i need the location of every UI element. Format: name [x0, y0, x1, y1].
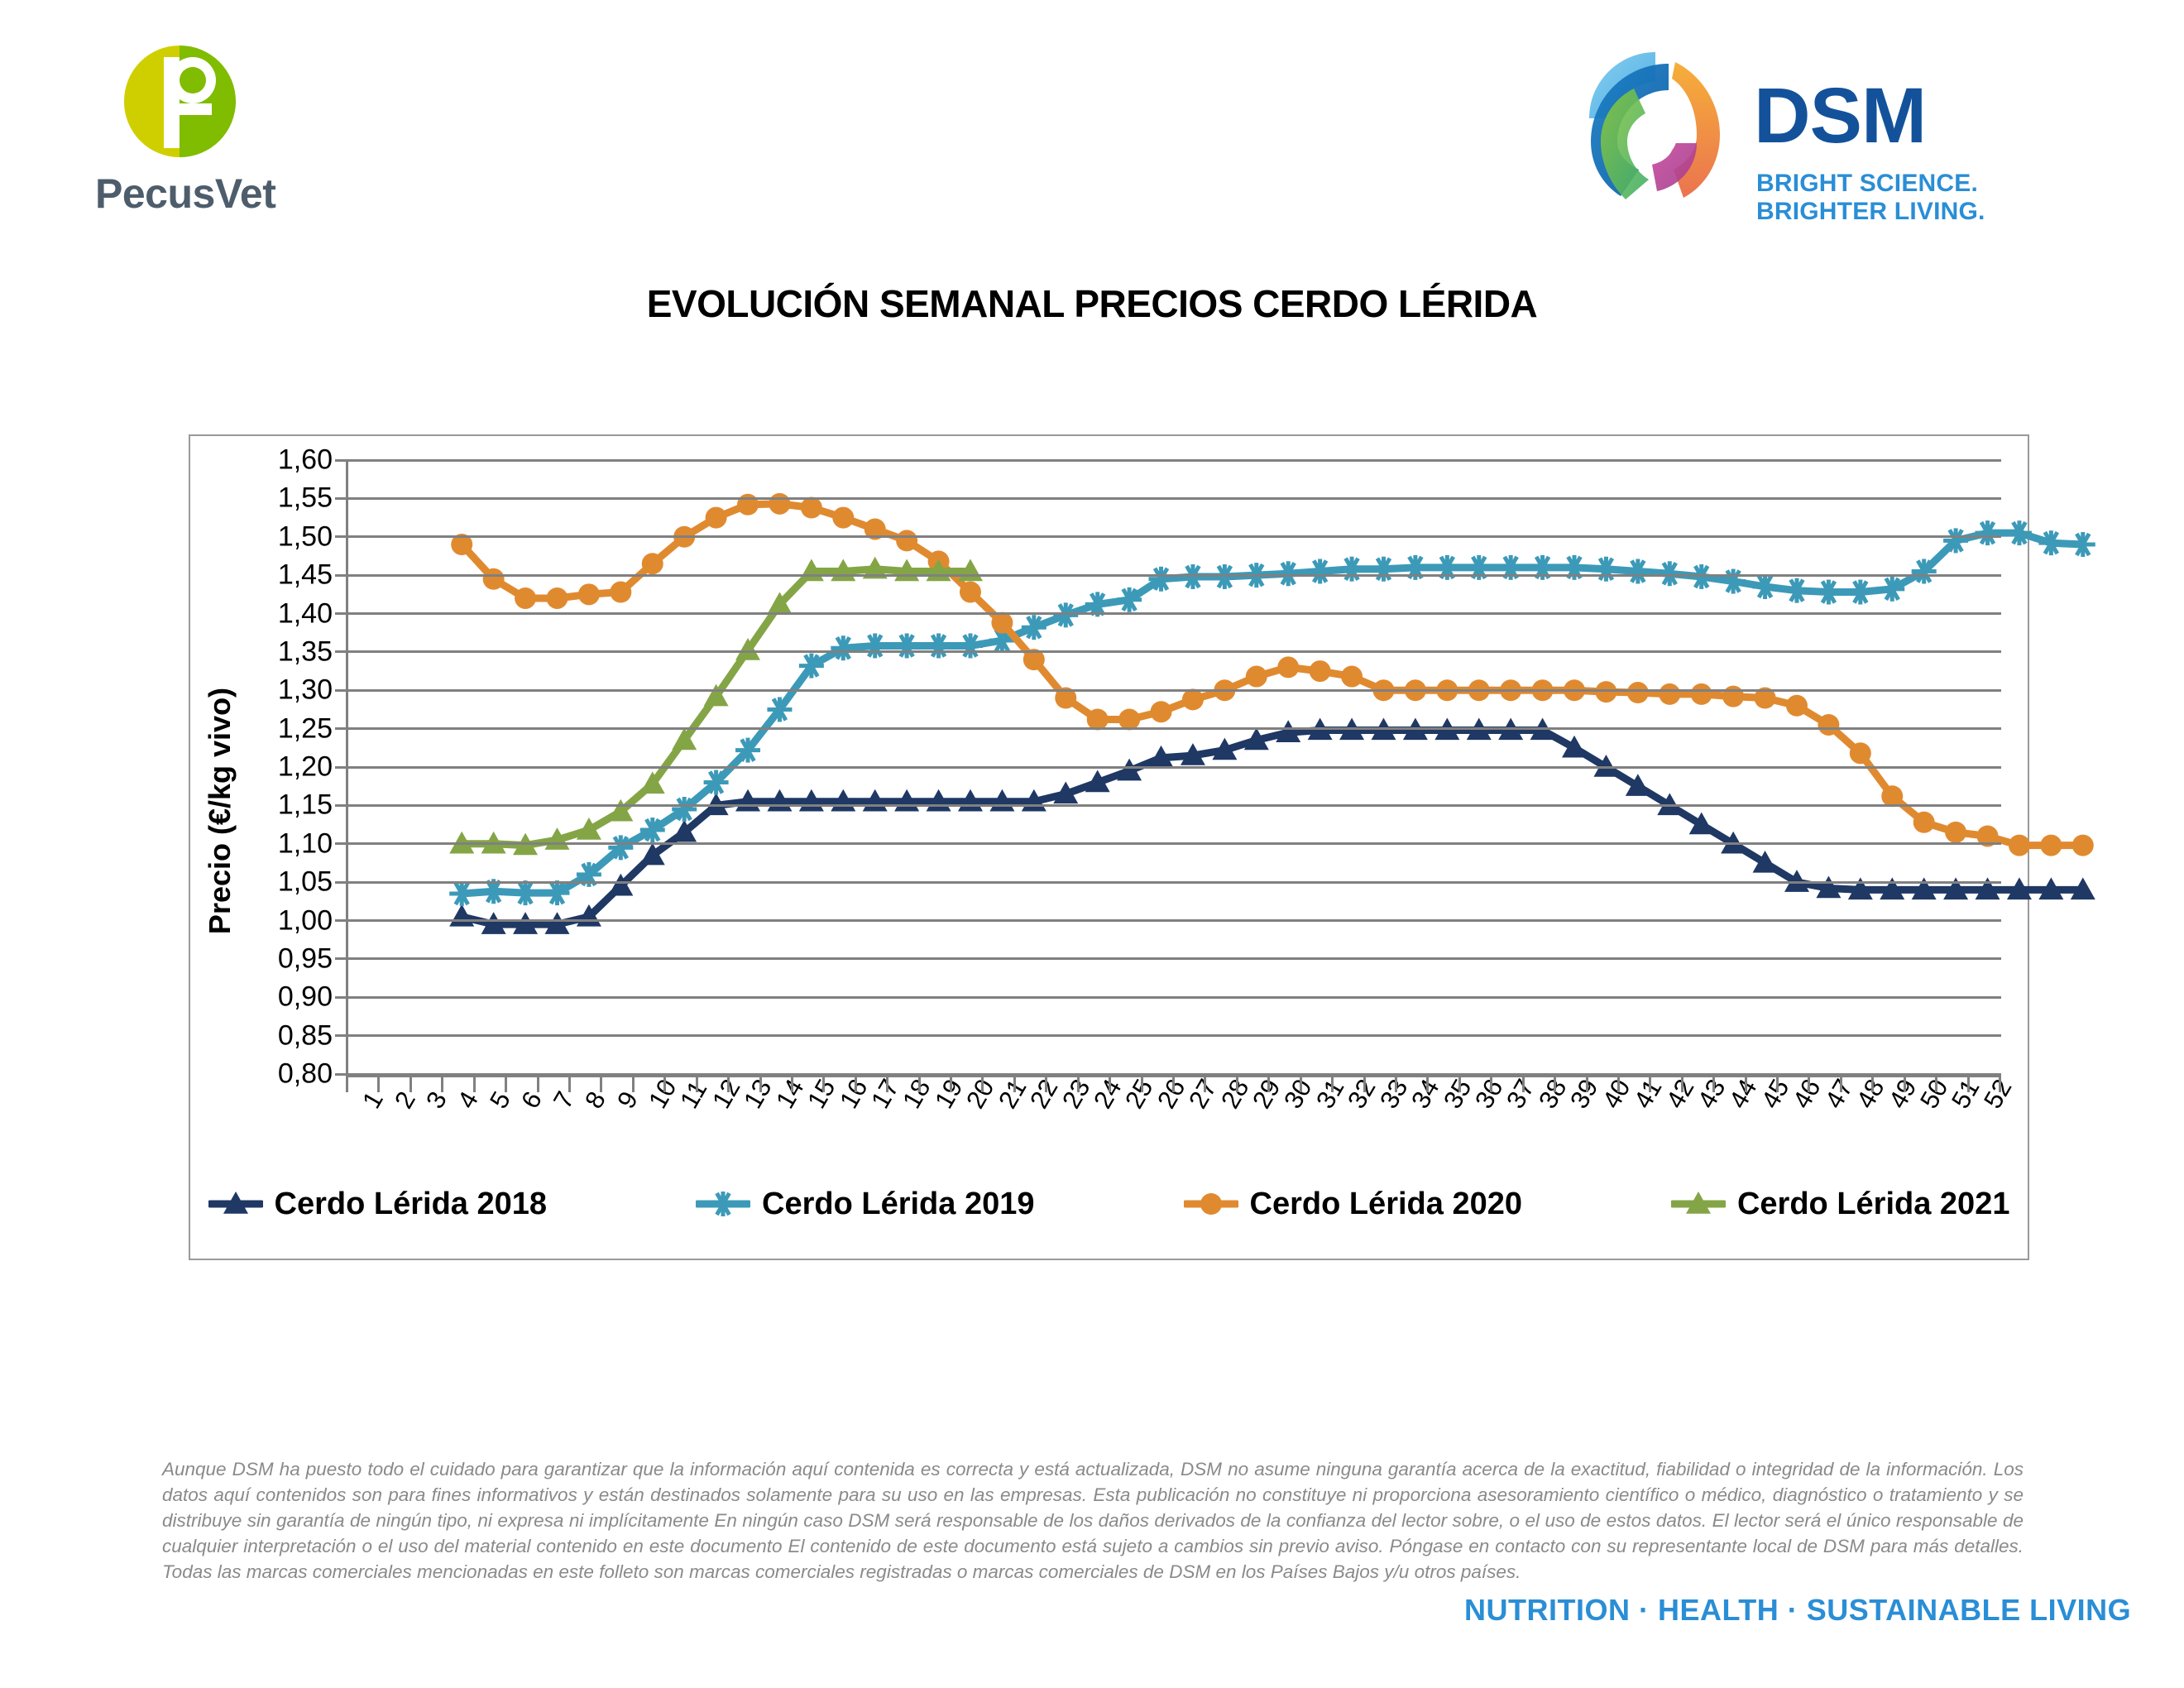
data-point-marker [927, 633, 951, 658]
x-tick-mark [1141, 1077, 1143, 1092]
data-point-marker [1945, 822, 1966, 843]
x-tick-label: 2 [389, 1086, 422, 1114]
gridline [348, 996, 2001, 999]
data-point-marker [1913, 812, 1935, 833]
x-tick-mark [759, 1077, 762, 1092]
data-point-marker [1151, 701, 1172, 722]
x-tick-mark [1331, 1077, 1334, 1092]
legend-marker-icon [1671, 1185, 1726, 1223]
legend-marker-icon [208, 1185, 263, 1223]
x-tick-mark [1077, 1077, 1080, 1092]
data-point-marker [894, 633, 919, 658]
x-tick-mark [1204, 1077, 1206, 1092]
x-tick-mark [1363, 1077, 1366, 1092]
data-point-marker [1626, 559, 1650, 583]
data-point-marker [1200, 1193, 1222, 1215]
data-point-marker [832, 507, 854, 529]
y-tick-mark [335, 881, 348, 884]
chart-legend: Cerdo Lérida 2018Cerdo Lérida 2019Cerdo … [189, 1175, 2029, 1233]
data-point-marker [1627, 682, 1649, 703]
dsm-logo: DSM BRIGHT SCIENCE. BRIGHTER LIVING. [1576, 46, 2105, 223]
data-point-marker [1593, 557, 1618, 582]
data-point-marker [1310, 660, 1331, 682]
data-point-marker [1689, 564, 1714, 589]
data-point-marker [1277, 656, 1299, 678]
data-point-marker [1212, 564, 1237, 589]
dsm-wordmark: DSM [1754, 77, 1926, 156]
pecusvet-logo: PecusVet [95, 46, 368, 228]
y-tick-mark [335, 535, 348, 538]
x-tick-mark [1681, 1077, 1683, 1092]
gridline [348, 1034, 2001, 1037]
data-point-marker [1850, 742, 1871, 764]
gridline [348, 459, 2001, 462]
x-tick-mark [346, 1077, 348, 1092]
data-point-marker [1308, 559, 1333, 583]
x-tick-label: 4 [452, 1086, 485, 1114]
x-tick-mark [855, 1077, 857, 1092]
legend-label: Cerdo Lérida 2021 [1737, 1187, 2009, 1222]
y-tick-mark [335, 919, 348, 922]
x-tick-label: 5 [484, 1086, 517, 1114]
data-point-marker [958, 633, 983, 658]
y-tick-mark [335, 574, 348, 577]
legend-marker-icon [1184, 1185, 1238, 1223]
x-tick-mark [1522, 1077, 1525, 1092]
series-cerdo-lérida-2018 [449, 717, 2095, 933]
x-tick-mark [568, 1077, 571, 1092]
dsm-swirl-icon [1576, 46, 1741, 211]
x-tick-mark [473, 1077, 476, 1092]
y-tick-mark [335, 612, 348, 615]
x-tick-mark [1808, 1077, 1810, 1092]
y-tick-mark [335, 727, 348, 730]
series-cerdo-lérida-2019 [449, 520, 2095, 906]
x-tick-mark [537, 1077, 539, 1092]
y-tick-mark [335, 459, 348, 462]
data-point-marker [1784, 578, 1809, 603]
y-tick-label: 0,90 [278, 981, 333, 1014]
x-tick-mark [663, 1077, 666, 1092]
y-tick-mark [335, 766, 348, 769]
data-point-marker [2040, 835, 2062, 856]
gridline [348, 612, 2001, 615]
data-point-marker [896, 530, 917, 551]
x-tick-mark [1871, 1077, 1874, 1092]
nutrition-health-tagline: NUTRITION · HEALTH · SUSTAINABLE LIVING [1464, 1593, 2131, 1628]
gridline [348, 842, 2001, 845]
gridline [348, 804, 2001, 807]
data-point-marker [2038, 530, 2063, 555]
y-axis-tick-labels: 1,601,551,501,451,401,351,301,251,201,15… [248, 460, 341, 1114]
x-tick-mark [1649, 1077, 1651, 1092]
x-tick-mark [1745, 1077, 1747, 1092]
y-tick-mark [335, 650, 348, 653]
x-tick-mark [1267, 1077, 1270, 1092]
data-point-marker [1721, 569, 1746, 594]
x-tick-mark [1776, 1077, 1779, 1092]
y-tick-label: 1,60 [278, 444, 333, 477]
x-tick-mark [1172, 1077, 1175, 1092]
data-point-marker [1848, 580, 1873, 605]
data-point-marker [1022, 615, 1046, 640]
data-point-marker [1246, 666, 1267, 688]
y-tick-mark [335, 497, 348, 500]
gridline [348, 727, 2001, 730]
data-point-marker [483, 568, 505, 590]
x-tick-mark [1967, 1077, 1970, 1092]
data-point-marker [2009, 835, 2030, 856]
y-tick-label: 1,00 [278, 904, 333, 937]
x-tick-label: 6 [515, 1086, 548, 1114]
x-tick-label: 9 [611, 1086, 644, 1114]
y-axis-label-text: Precio (€/kg vivo) [195, 637, 245, 985]
gridline [348, 650, 2001, 653]
x-tick-mark [1300, 1077, 1302, 1092]
x-tick-mark [632, 1077, 635, 1092]
x-tick-mark [1458, 1077, 1461, 1092]
x-tick-mark [1554, 1077, 1556, 1092]
y-tick-label: 0,80 [278, 1058, 333, 1091]
x-tick-mark [822, 1077, 825, 1092]
x-tick-label: 3 [420, 1086, 453, 1114]
x-tick-mark [1426, 1077, 1429, 1092]
pecusvet-wordmark: PecusVet [95, 170, 368, 218]
y-tick-mark [335, 804, 348, 807]
data-point-marker [578, 583, 600, 605]
data-point-marker [1753, 574, 1778, 599]
x-tick-mark [409, 1077, 412, 1092]
data-point-marker [991, 612, 1013, 634]
legend-item-2020[interactable]: Cerdo Lérida 2020 [1184, 1185, 1522, 1223]
y-tick-label: 1,05 [278, 866, 333, 899]
y-tick-mark [335, 996, 348, 999]
plot-area [346, 460, 2001, 1074]
data-point-marker [515, 587, 536, 609]
x-tick-mark [1586, 1077, 1588, 1092]
x-tick-mark [505, 1077, 507, 1092]
data-point-marker [1053, 602, 1078, 627]
x-tick-mark [791, 1077, 793, 1092]
data-point-marker [1818, 714, 1839, 736]
data-point-marker [863, 633, 888, 658]
dsm-tagline: BRIGHT SCIENCE. BRIGHTER LIVING. [1756, 170, 2105, 226]
data-point-marker [801, 497, 822, 519]
legend-item-2021[interactable]: Cerdo Lérida 2021 [1671, 1185, 2009, 1223]
legend-item-2018[interactable]: Cerdo Lérida 2018 [208, 1185, 547, 1223]
x-tick-mark [727, 1077, 730, 1092]
data-point-marker [2007, 520, 2032, 545]
y-tick-label: 1,25 [278, 712, 333, 745]
x-tick-mark [950, 1077, 952, 1092]
gridline [348, 957, 2001, 960]
y-tick-label: 1,10 [278, 827, 333, 860]
data-point-marker [1341, 666, 1363, 688]
y-tick-label: 1,35 [278, 635, 333, 668]
data-point-marker [1182, 688, 1204, 710]
x-tick-mark [600, 1077, 602, 1092]
x-tick-mark [886, 1077, 888, 1092]
x-tick-mark [1109, 1077, 1111, 1092]
page-header: PecusVet [0, 0, 2184, 248]
y-tick-label: 0,85 [278, 1019, 333, 1052]
data-point-marker [2071, 532, 2095, 557]
x-tick-mark [1904, 1077, 1906, 1092]
data-point-marker [960, 582, 981, 603]
gridline [348, 919, 2001, 922]
x-tick-mark [1840, 1077, 1842, 1092]
y-tick-mark [335, 957, 348, 960]
gridline [348, 689, 2001, 692]
data-point-marker [546, 587, 568, 609]
x-tick-mark [1013, 1077, 1016, 1092]
data-point-marker [711, 1192, 735, 1216]
legend-item-2019[interactable]: Cerdo Lérida 2019 [696, 1185, 1034, 1223]
y-tick-label: 0,95 [278, 942, 333, 975]
legend-label: Cerdo Lérida 2018 [275, 1187, 547, 1222]
data-point-marker [1371, 557, 1396, 582]
y-tick-mark [335, 1034, 348, 1037]
gridline [348, 766, 2001, 769]
data-point-marker [513, 880, 538, 905]
y-tick-label: 1,20 [278, 751, 333, 784]
disclaimer-text: Aunque DSM ha puesto todo el cuidado par… [162, 1456, 2024, 1585]
x-tick-mark [1490, 1077, 1492, 1092]
legend-marker-icon [696, 1185, 750, 1223]
page-title: EVOLUCIÓN SEMANAL PRECIOS CERDO LÉRIDA [0, 281, 2184, 326]
y-tick-label: 1,50 [278, 520, 333, 553]
data-point-marker [1816, 580, 1841, 605]
x-tick-mark [377, 1077, 380, 1092]
x-tick-mark [441, 1077, 443, 1092]
y-tick-label: 1,45 [278, 559, 333, 592]
legend-label: Cerdo Lérida 2020 [1250, 1187, 1522, 1222]
x-tick-mark [1935, 1077, 1937, 1092]
x-tick-label: 7 [548, 1086, 581, 1114]
gridline [348, 535, 2001, 538]
data-point-marker [1976, 520, 2000, 545]
data-point-marker [1659, 683, 1680, 705]
plot-wrapper: 1,601,551,501,451,401,351,301,251,201,15… [248, 460, 2002, 1114]
x-tick-label: 1 [357, 1086, 390, 1114]
legend-label: Cerdo Lérida 2019 [762, 1187, 1034, 1222]
gridline [348, 497, 2001, 500]
data-point-marker [449, 881, 474, 906]
x-tick-mark [981, 1077, 984, 1092]
y-tick-label: 1,30 [278, 674, 333, 707]
data-point-marker [1786, 695, 1808, 717]
gridline [348, 881, 2001, 884]
y-axis-label: Precio (€/kg vivo) [195, 637, 245, 985]
pecusvet-p-circle-icon [124, 46, 236, 157]
data-point-marker [769, 493, 790, 515]
data-point-marker [610, 582, 631, 603]
y-tick-mark [335, 689, 348, 692]
x-tick-mark [1617, 1077, 1620, 1092]
y-tick-label: 1,40 [278, 597, 333, 630]
y-tick-mark [335, 842, 348, 845]
gridline [348, 574, 2001, 577]
y-tick-label: 1,55 [278, 482, 333, 515]
data-point-marker [1595, 681, 1616, 703]
x-tick-mark [1395, 1077, 1397, 1092]
x-tick-mark [918, 1077, 921, 1092]
x-tick-mark [1045, 1077, 1047, 1092]
data-point-marker [706, 507, 727, 529]
data-point-marker [642, 553, 663, 574]
y-tick-label: 1,15 [278, 789, 333, 822]
data-point-marker [1181, 564, 1205, 589]
x-tick-label: 8 [579, 1086, 612, 1114]
x-tick-mark [1236, 1077, 1238, 1092]
data-point-marker [1691, 683, 1712, 705]
x-tick-mark [696, 1077, 698, 1092]
data-point-marker [1339, 557, 1364, 582]
x-tick-mark [1999, 1077, 2001, 1092]
x-tick-mark [1712, 1077, 1715, 1092]
data-point-marker [2072, 835, 2094, 856]
